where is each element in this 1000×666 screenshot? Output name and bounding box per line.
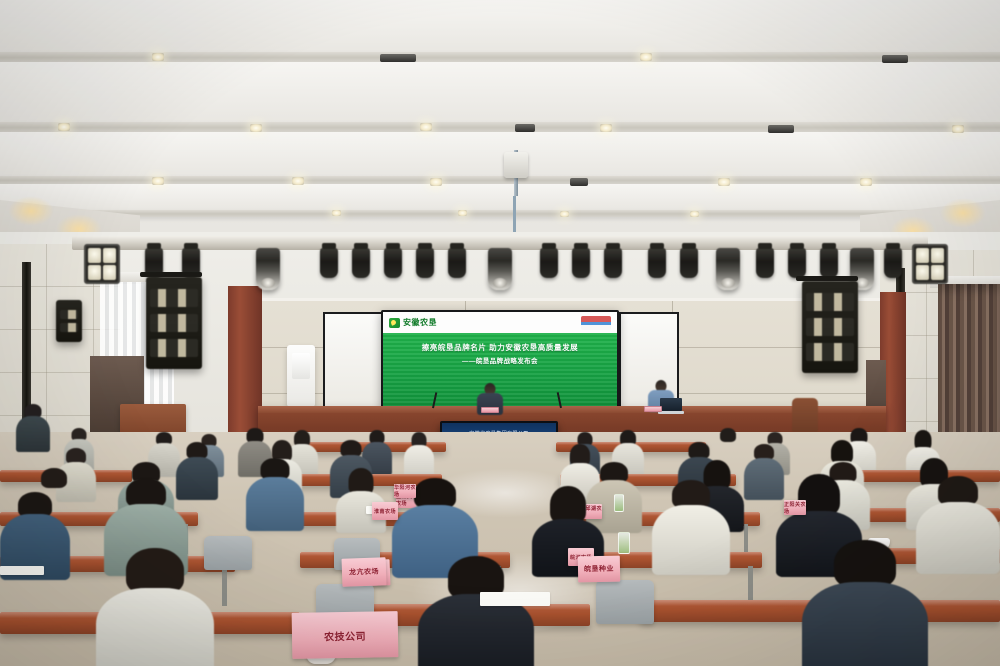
- line-array-speaker-left: [146, 277, 202, 369]
- cove-light-glow: [8, 196, 54, 226]
- ceiling-vent: [882, 55, 908, 63]
- slide-subtitle: ——皖垦品牌战略发布会: [383, 355, 617, 365]
- slide-title: 擦亮皖垦品牌名片 助力安徽农垦高质量发展: [383, 342, 617, 353]
- brand-logo: 安徽农垦: [389, 317, 437, 328]
- ceiling-vent: [570, 178, 588, 186]
- slide-header: 安徽农垦: [383, 312, 617, 333]
- conference-hall-photo: 安徽农垦 擦亮皖垦品牌名片 助力安徽农垦高质量发展 ——皖垦品牌战略发布会 安徽…: [0, 0, 1000, 666]
- leaf-logo-icon: [389, 318, 400, 328]
- name-placard: 龙亢农场: [342, 557, 387, 587]
- air-purifier-unit: [287, 345, 315, 407]
- presenter-nameplate: [481, 407, 499, 413]
- par-can-light: [788, 248, 806, 278]
- par-can-light: [384, 248, 402, 278]
- name-placard: 淮南农场: [372, 502, 398, 520]
- ceiling-vent: [515, 124, 535, 132]
- blinder-light: [912, 244, 948, 284]
- ceiling-spotlight: [458, 210, 467, 216]
- ceiling-spotlight: [58, 123, 70, 131]
- par-can-light: [320, 248, 338, 278]
- ceiling-spotlight: [292, 177, 304, 185]
- ceiling-spotlight: [430, 178, 442, 186]
- cooperative-logo-icon: [581, 316, 611, 330]
- moving-head-light: [488, 248, 512, 290]
- par-can-light: [680, 248, 698, 278]
- projector: [504, 152, 528, 178]
- operator-nameplate: [644, 406, 662, 412]
- ceiling-spotlight: [420, 123, 432, 131]
- name-placard: 华阳河农场: [394, 484, 416, 498]
- wall-speaker-left: [56, 300, 82, 342]
- ceiling-vent: [768, 125, 794, 133]
- name-placard: 皖垦种业: [578, 556, 620, 583]
- name-placard: 正阳关农场: [784, 500, 806, 515]
- par-can-light: [448, 248, 466, 278]
- ceiling-spotlight: [952, 125, 964, 133]
- document-stack: [480, 592, 550, 606]
- moving-head-light: [716, 248, 740, 290]
- par-can-light: [540, 248, 558, 278]
- document-sheet: [0, 566, 44, 575]
- par-can-light: [884, 248, 902, 278]
- ceiling-spotlight: [600, 124, 612, 132]
- ceiling-spotlight: [690, 211, 699, 217]
- ceiling-spotlight: [640, 53, 652, 61]
- ceiling-spotlight: [718, 178, 730, 186]
- stage-chair-right: [792, 398, 818, 432]
- par-can-light: [604, 248, 622, 278]
- ceiling-vent: [380, 54, 416, 62]
- drinking-glass: [618, 532, 630, 554]
- operator-laptop: [660, 398, 682, 411]
- par-can-light: [416, 248, 434, 278]
- par-can-light: [820, 248, 838, 278]
- blinder-light: [84, 244, 120, 284]
- moving-head-light: [256, 248, 280, 290]
- ceiling-spotlight: [152, 177, 164, 185]
- brand-logo-text: 安徽农垦: [403, 317, 437, 328]
- ceiling: [0, 0, 1000, 232]
- par-can-light: [352, 248, 370, 278]
- name-placard: 农技公司: [292, 611, 399, 659]
- par-can-light: [756, 248, 774, 278]
- par-can-light: [648, 248, 666, 278]
- ceiling-spotlight: [250, 124, 262, 132]
- ceiling-spotlight: [152, 53, 164, 61]
- wood-column-left: [228, 286, 262, 438]
- led-wall-wing-left: [323, 312, 383, 408]
- cove-light-glow: [940, 198, 986, 228]
- ceiling-spotlight: [332, 210, 341, 216]
- wall-recess-slot-left: [22, 262, 31, 422]
- drinking-glass: [614, 494, 624, 512]
- ceiling-spotlight: [860, 178, 872, 186]
- line-array-speaker-right: [802, 281, 858, 373]
- par-can-light: [572, 248, 590, 278]
- ceiling-spotlight: [560, 211, 569, 217]
- chair: [596, 580, 654, 624]
